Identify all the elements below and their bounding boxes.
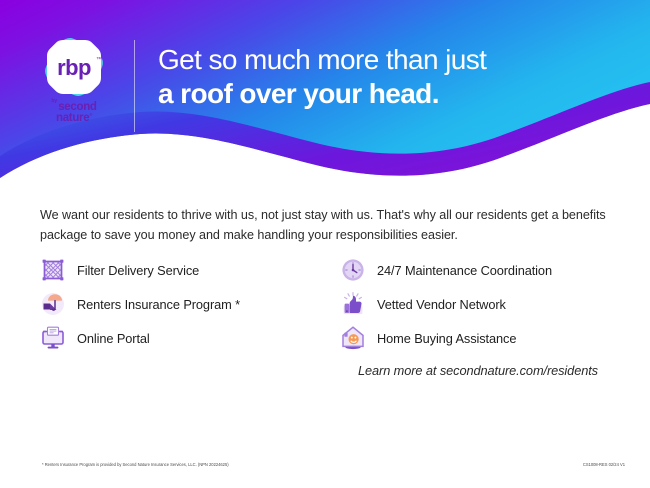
desktop-monitor-icon [40,325,66,351]
flyer-canvas: rbp ™ bysecond nature® Get so much more … [0,0,650,488]
benefit-label: Home Buying Assistance [377,331,516,346]
footer-document-code: CS1008-RES 02/24 V1 [583,462,625,467]
benefits-right-column: 24/7 Maintenance Coordination Vetted Ven… [340,253,620,355]
learn-more-cta[interactable]: Learn more at secondnature.com/residents [358,363,598,378]
intro-paragraph: We want our residents to thrive with us,… [40,205,610,246]
benefits-list: Filter Delivery Service Renters Insuranc… [40,253,620,355]
hero-vertical-divider [134,40,135,132]
benefit-label: Online Portal [77,331,150,346]
logo-nature-label: nature [56,112,89,124]
benefit-item-online-portal: Online Portal [40,321,340,355]
rbp-logo-subtext: bysecond nature® [37,98,111,125]
benefit-label: 24/7 Maintenance Coordination [377,263,552,278]
smiling-house-icon [340,325,366,351]
rbp-logo: rbp ™ bysecond nature® [37,36,111,132]
benefit-item-filter-delivery: Filter Delivery Service [40,253,340,287]
hero-headline: Get so much more than just a roof over y… [158,43,486,111]
benefit-label: Vetted Vendor Network [377,297,506,312]
benefits-left-column: Filter Delivery Service Renters Insuranc… [40,253,340,355]
benefit-item-home-buying-assistance: Home Buying Assistance [340,321,620,355]
headline-line-1: Get so much more than just [158,43,486,77]
rbp-trademark-symbol: ™ [96,56,102,63]
eight-point-star-icon: rbp ™ [37,36,111,100]
logo-by-text: by [51,99,57,104]
benefit-label: Renters Insurance Program * [77,297,240,312]
benefit-label: Filter Delivery Service [77,263,199,278]
air-filter-icon [40,257,66,283]
logo-registered-symbol: ® [89,112,92,117]
hero-banner: rbp ™ bysecond nature® Get so much more … [0,0,650,196]
footer-disclaimer: * Renters Insurance Program is provided … [42,462,229,467]
clock-icon [340,257,366,283]
benefit-item-vetted-vendor-network: Vetted Vendor Network [340,287,620,321]
benefit-item-renters-insurance: Renters Insurance Program * [40,287,340,321]
logo-nature-text: nature® [37,113,111,125]
rbp-wordmark: rbp [57,55,91,80]
headline-line-2: a roof over your head. [158,77,486,111]
logo-second-text: second [58,101,96,113]
umbrella-house-icon [40,291,66,317]
benefit-item-maintenance-coordination: 24/7 Maintenance Coordination [340,253,620,287]
hero-content: rbp ™ bysecond nature® Get so much more … [0,0,650,196]
thumbs-up-icon [340,291,366,317]
rbp-logo-mark: rbp ™ [37,36,111,100]
